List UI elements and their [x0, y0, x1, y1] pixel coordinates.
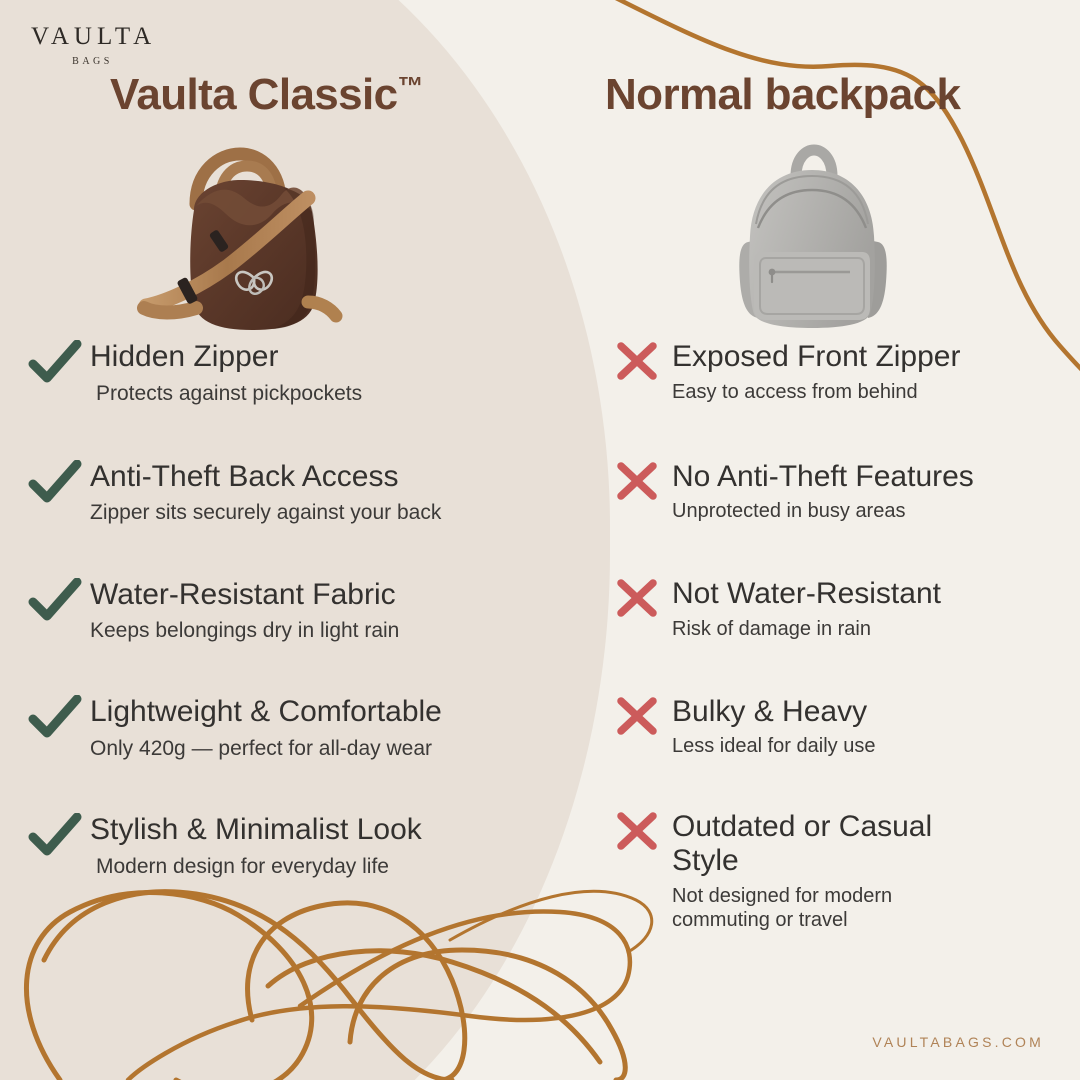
product-image-normal-backpack	[722, 132, 902, 347]
comparison-infographic: VAULTA BAGS Vaulta Classic™ Normal backp…	[0, 0, 1080, 1080]
feature-subtitle: Risk of damage in rain	[672, 617, 1054, 641]
feature-row: Outdated or Casual Style Not designed fo…	[614, 810, 1054, 931]
feature-title: Hidden Zipper	[90, 340, 548, 374]
feature-text: Bulky & Heavy Less ideal for daily use	[672, 695, 1054, 759]
feature-title: No Anti-Theft Features	[672, 460, 1054, 494]
feature-subtitle: Unprotected in busy areas	[672, 499, 1054, 523]
check-icon	[28, 695, 90, 739]
feature-list-vaulta: Hidden Zipper Protects against pickpocke…	[28, 340, 548, 879]
feature-row: Lightweight & Comfortable Only 420g — pe…	[28, 695, 548, 761]
feature-subtitle: Not designed for modern commuting or tra…	[672, 884, 950, 932]
feature-subtitle: Easy to access from behind	[672, 380, 1054, 404]
right-column-heading: Normal backpack	[605, 70, 960, 120]
trademark-symbol: ™	[398, 71, 424, 101]
feature-list-normal: Exposed Front Zipper Easy to access from…	[614, 340, 1054, 932]
feature-row: Anti-Theft Back Access Zipper sits secur…	[28, 460, 548, 526]
cross-icon	[614, 810, 672, 852]
product-image-vaulta-classic	[122, 132, 352, 347]
brand-logo: VAULTA BAGS	[26, 24, 156, 67]
feature-title: Outdated or Casual Style	[672, 810, 1002, 877]
feature-title: Anti-Theft Back Access	[90, 460, 548, 494]
feature-title: Not Water-Resistant	[672, 577, 1054, 611]
feature-subtitle: Protects against pickpockets	[90, 381, 548, 406]
feature-subtitle: Less ideal for daily use	[672, 734, 1054, 758]
feature-title: Exposed Front Zipper	[672, 340, 1054, 374]
cross-icon	[614, 577, 672, 619]
brown-backpack-illustration	[122, 132, 352, 342]
left-column-heading-text: Vaulta Classic	[110, 70, 398, 119]
cross-icon	[614, 695, 672, 737]
check-icon	[28, 460, 90, 504]
feature-title: Stylish & Minimalist Look	[90, 813, 548, 847]
check-icon	[28, 340, 90, 384]
left-column-heading: Vaulta Classic™	[110, 70, 424, 120]
cross-icon	[614, 460, 672, 502]
feature-text: Not Water-Resistant Risk of damage in ra…	[672, 577, 1054, 641]
cross-icon	[614, 340, 672, 382]
feature-subtitle: Modern design for everyday life	[90, 854, 548, 879]
feature-subtitle: Keeps belongings dry in light rain	[90, 618, 548, 643]
feature-row: Water-Resistant Fabric Keeps belongings …	[28, 578, 548, 644]
footer-website-url[interactable]: VAULTABAGS.COM	[872, 1034, 1044, 1050]
feature-text: Stylish & Minimalist Look Modern design …	[90, 813, 548, 879]
check-icon	[28, 813, 90, 857]
feature-subtitle: Zipper sits securely against your back	[90, 500, 548, 525]
feature-row: Hidden Zipper Protects against pickpocke…	[28, 340, 548, 406]
brand-logo-word: VAULTA	[26, 24, 156, 49]
feature-text: Water-Resistant Fabric Keeps belongings …	[90, 578, 548, 644]
feature-text: Anti-Theft Back Access Zipper sits secur…	[90, 460, 548, 526]
feature-title: Bulky & Heavy	[672, 695, 1054, 729]
feature-row: No Anti-Theft Features Unprotected in bu…	[614, 460, 1054, 524]
feature-subtitle: Only 420g — perfect for all-day wear	[90, 736, 548, 761]
feature-row: Bulky & Heavy Less ideal for daily use	[614, 695, 1054, 759]
feature-text: No Anti-Theft Features Unprotected in bu…	[672, 460, 1054, 524]
feature-row: Stylish & Minimalist Look Modern design …	[28, 813, 548, 879]
feature-row: Not Water-Resistant Risk of damage in ra…	[614, 577, 1054, 641]
feature-text: Outdated or Casual Style Not designed fo…	[672, 810, 1002, 931]
feature-text: Lightweight & Comfortable Only 420g — pe…	[90, 695, 548, 761]
feature-title: Water-Resistant Fabric	[90, 578, 548, 612]
feature-row: Exposed Front Zipper Easy to access from…	[614, 340, 1054, 404]
feature-title: Lightweight & Comfortable	[90, 695, 548, 729]
gray-backpack-illustration	[722, 132, 902, 342]
brand-logo-subtitle: BAGS	[26, 56, 156, 67]
feature-text: Exposed Front Zipper Easy to access from…	[672, 340, 1054, 404]
feature-text: Hidden Zipper Protects against pickpocke…	[90, 340, 548, 406]
check-icon	[28, 578, 90, 622]
